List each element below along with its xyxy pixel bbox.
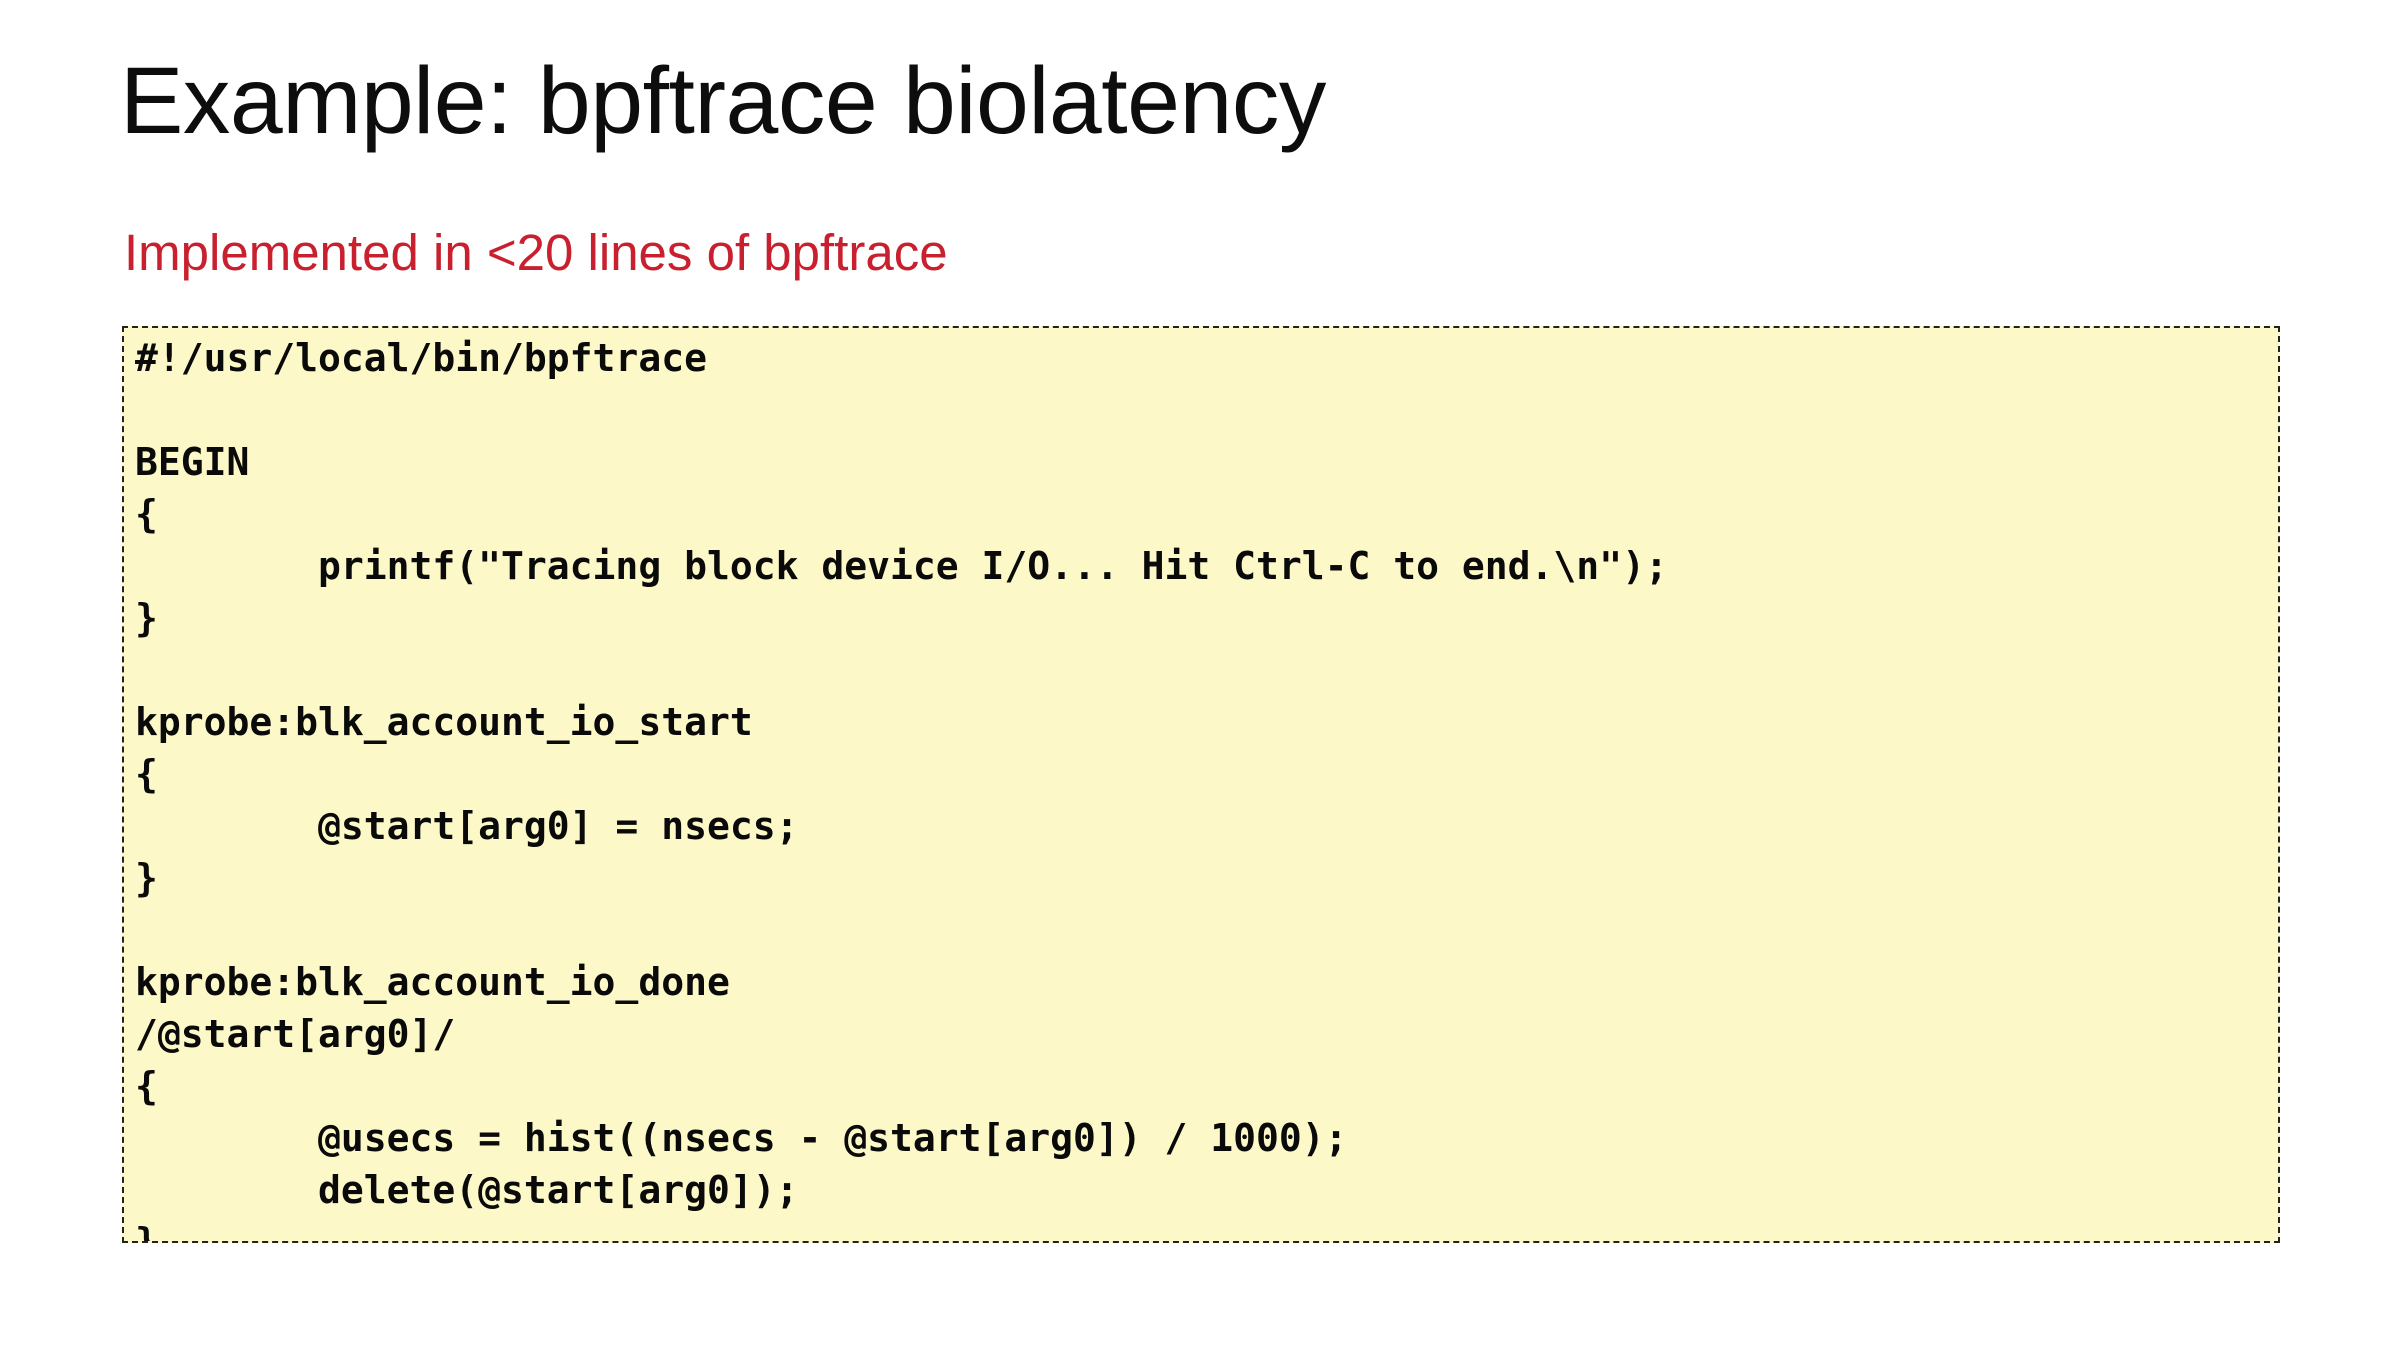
code-line: } xyxy=(135,592,2278,644)
code-line: { xyxy=(135,748,2278,800)
code-line: kprobe:blk_account_io_done xyxy=(135,956,2278,1008)
code-line: } xyxy=(135,852,2278,904)
code-line: { xyxy=(135,488,2278,540)
slide-canvas: Example: bpftrace biolatency Implemented… xyxy=(0,0,2400,1350)
code-line: kprobe:blk_account_io_start xyxy=(135,696,2278,748)
code-line: /@start[arg0]/ xyxy=(135,1008,2278,1060)
code-line-blank xyxy=(135,384,2278,436)
code-line-blank xyxy=(135,644,2278,696)
code-line: BEGIN xyxy=(135,436,2278,488)
code-line: printf("Tracing block device I/O... Hit … xyxy=(135,540,2278,592)
code-line: delete(@start[arg0]); xyxy=(135,1164,2278,1216)
code-line: @usecs = hist((nsecs - @start[arg0]) / 1… xyxy=(135,1112,2278,1164)
code-line-blank xyxy=(135,904,2278,956)
slide-subtitle: Implemented in <20 lines of bpftrace xyxy=(124,224,948,283)
code-line: { xyxy=(135,1060,2278,1112)
code-lines-container: #!/usr/local/bin/bpftrace BEGIN{ printf(… xyxy=(135,332,2278,1243)
page-title: Example: bpftrace biolatency xyxy=(120,48,1326,154)
code-line: @start[arg0] = nsecs; xyxy=(135,800,2278,852)
code-line: #!/usr/local/bin/bpftrace xyxy=(135,332,2278,384)
code-block: #!/usr/local/bin/bpftrace BEGIN{ printf(… xyxy=(122,326,2280,1243)
code-line: } xyxy=(135,1216,2278,1243)
